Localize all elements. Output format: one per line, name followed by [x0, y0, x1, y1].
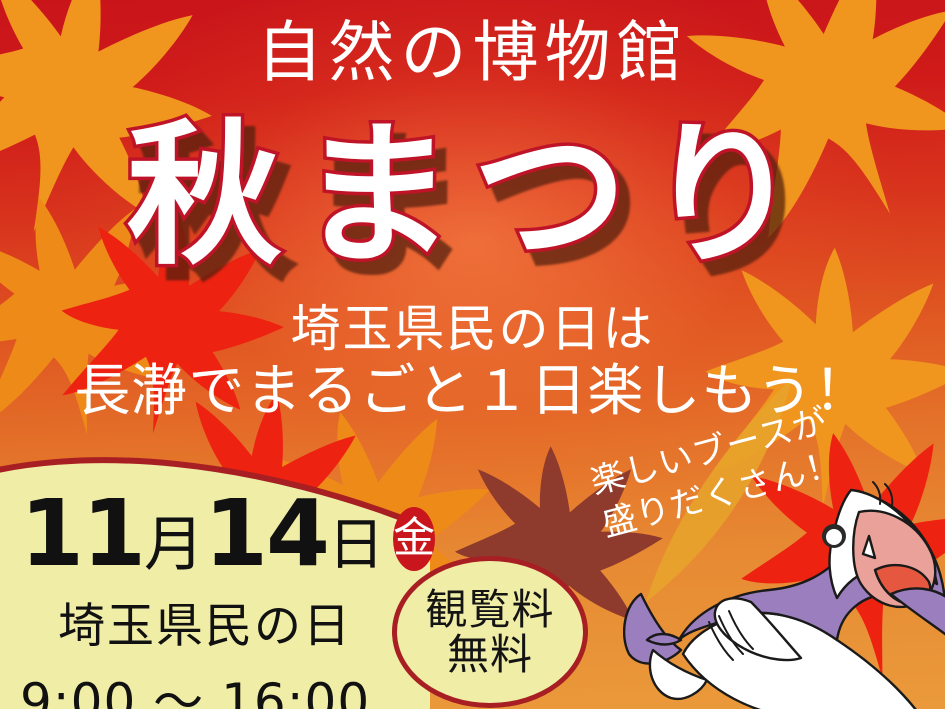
date-block: 11 月 14 日 金 埼玉県民の日 9:00 ～ 16:00: [20, 492, 380, 709]
day-number: 14: [204, 492, 328, 577]
admission-badge: 観覧料 無料: [392, 556, 588, 708]
opening-hours: 9:00 ～ 16:00: [20, 662, 380, 709]
weekday-badge: 金: [393, 507, 435, 571]
museum-name: 自然の博物館: [0, 20, 945, 86]
admission-value: 無料: [447, 632, 533, 677]
month-number: 11: [20, 492, 144, 577]
date-line: 11 月 14 日 金: [20, 492, 380, 577]
event-title: 秋まつり: [0, 118, 945, 273]
autumn-festival-poster: 自然の博物館 秋まつり 埼玉県民の日は 長瀞でまるごと１日楽しもう！ 11 月 …: [0, 0, 945, 709]
subtitle-line-1: 埼玉県民の日は: [0, 300, 945, 359]
day-unit: 日: [328, 520, 384, 577]
admission-label: 観覧料: [425, 587, 554, 632]
occasion-label: 埼玉県民の日: [58, 587, 380, 656]
month-unit: 月: [144, 518, 204, 576]
